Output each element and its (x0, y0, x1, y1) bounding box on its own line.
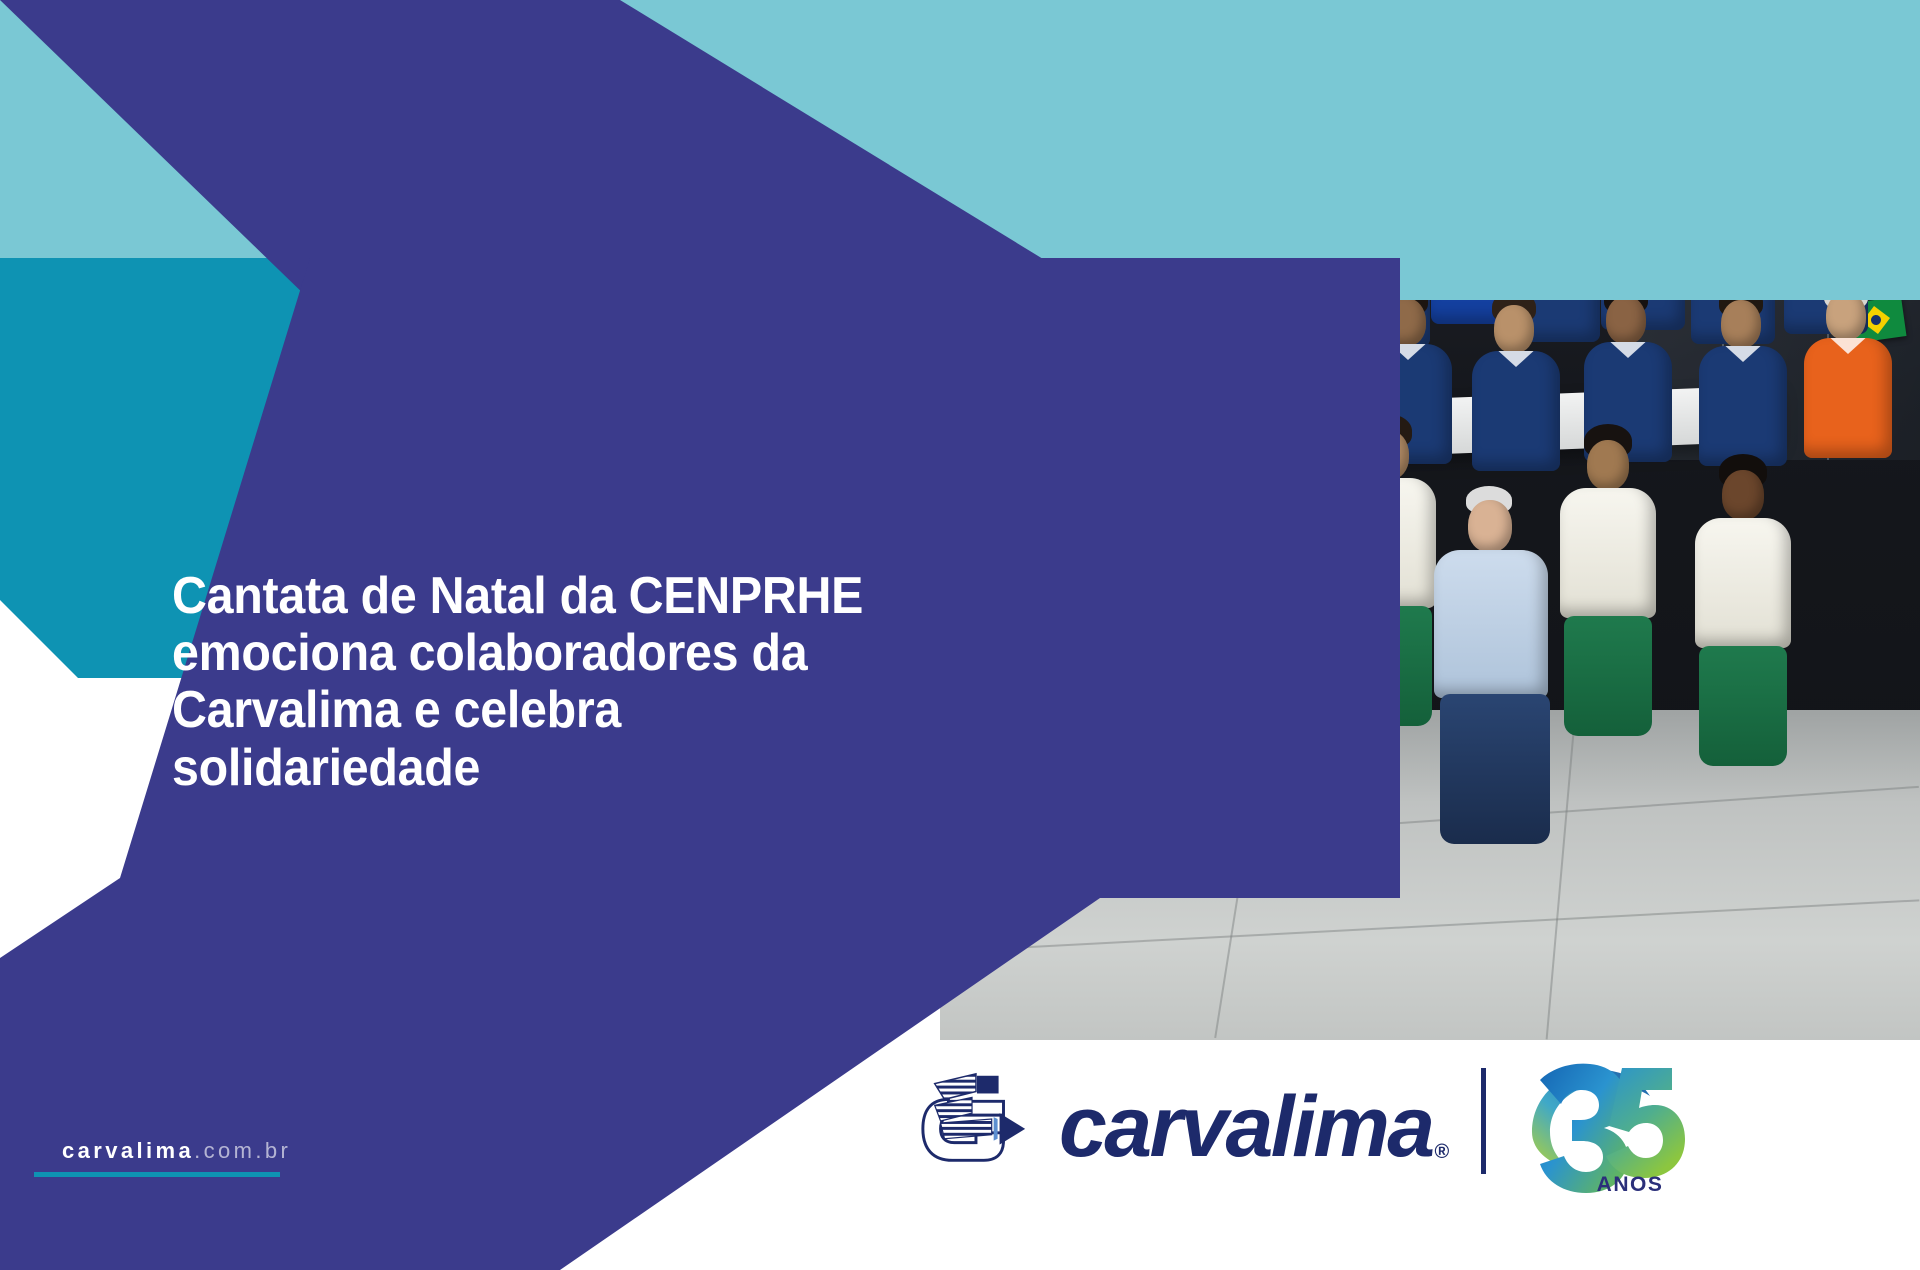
logo-divider (1481, 1068, 1486, 1174)
headline-line-1: Cantata de Natal da CENPRHE (172, 568, 1009, 625)
footer-branding: carvalima® (915, 1046, 1686, 1196)
site-url-underline (34, 1172, 280, 1177)
headline-line-4: solidariedade (172, 740, 1009, 797)
headline-line-2: emociona colaboradores da (172, 625, 1009, 682)
carvalima-wordmark: carvalima® (1059, 1084, 1445, 1170)
carvalima-c-monogram-icon (915, 1062, 1033, 1180)
headline-line-3: Carvalima e celebra (172, 682, 1009, 739)
floor-seam (941, 899, 1920, 952)
site-url-brand: carvalima (62, 1138, 194, 1163)
floor-seam (1546, 711, 1577, 1040)
news-card-canvas: Cantata de Natal da CENPRHE emociona col… (0, 0, 1920, 1270)
anos-label: ANOS (1596, 1173, 1663, 1196)
headline: Cantata de Natal da CENPRHE emociona col… (172, 568, 1009, 797)
site-url[interactable]: carvalima.com.br (62, 1138, 291, 1164)
site-url-tld: .com.br (194, 1138, 291, 1163)
wordmark-text: carvalima (1059, 1079, 1432, 1175)
anniversary-35-anos-badge: ANOS (1518, 1046, 1686, 1196)
registered-trademark-icon: ® (1434, 1141, 1446, 1163)
